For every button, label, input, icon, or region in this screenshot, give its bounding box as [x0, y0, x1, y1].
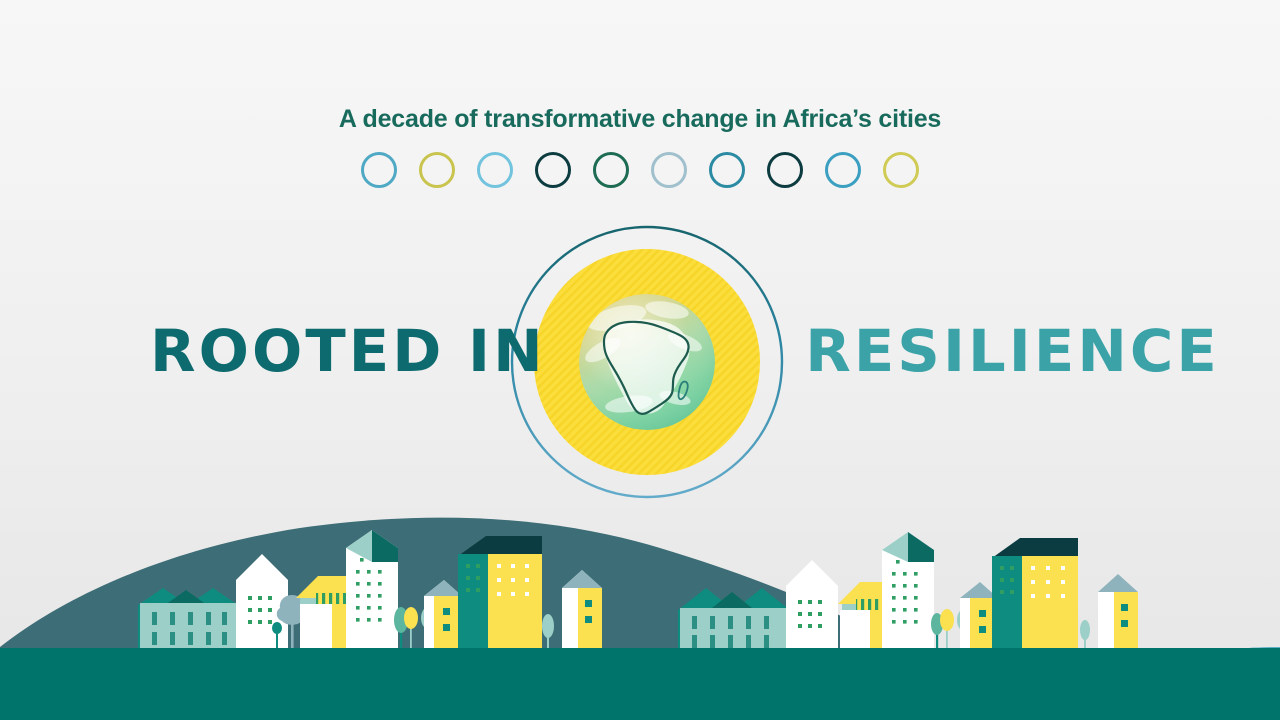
building-right-apartment — [678, 588, 790, 650]
building-right-white-house — [786, 560, 838, 650]
wordmark-resilience: RESILIENCE — [805, 320, 1152, 382]
dot-9-icon — [825, 152, 861, 188]
dot-1-icon — [361, 152, 397, 188]
dot-5-icon — [593, 152, 629, 188]
wordmark-rooted-in: ROOTED IN — [150, 320, 487, 382]
city-skyline-illustration — [0, 500, 1280, 720]
building-tower-white-right — [882, 532, 934, 650]
building-tower-white-left — [346, 530, 398, 650]
dot-6-icon — [651, 152, 687, 188]
dot-10-icon — [883, 152, 919, 188]
page-title: A decade of transformative change in Afr… — [0, 103, 1280, 135]
dot-4-icon — [535, 152, 571, 188]
slide-canvas: A decade of transformative change in Afr… — [0, 0, 1280, 720]
building-far-right-slate-roof — [1098, 574, 1138, 650]
ground-band — [0, 648, 1280, 720]
dot-2-icon — [419, 152, 455, 188]
building-tower-teal-yellow-left — [458, 536, 542, 650]
building-left-apartment — [138, 588, 238, 650]
dot-7-icon — [709, 152, 745, 188]
building-tower-teal-yellow-right — [992, 538, 1078, 650]
dot-3-icon — [477, 152, 513, 188]
ring-dot-row — [0, 152, 1280, 188]
africa-globe-emblem — [507, 222, 787, 502]
tree-right-3 — [1080, 620, 1090, 650]
dot-8-icon — [767, 152, 803, 188]
